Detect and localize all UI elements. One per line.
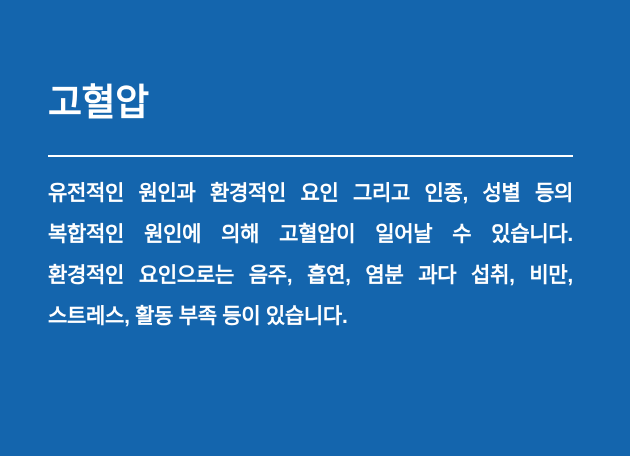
body-line-3-word-8: 비만, [529, 255, 573, 296]
body-line-1-word-3: 환경적인 [210, 173, 286, 214]
body-line-1-word-7: 성별 [482, 173, 520, 214]
title-divider [48, 155, 573, 157]
body-line-2-word-3: 의해 [221, 214, 259, 255]
body-line-3-word-5: 염분 [365, 255, 403, 296]
body-line-3-word-7: 섭취, [471, 255, 515, 296]
body-line-2-word-1: 복합적인 [48, 214, 124, 255]
body-line-3: 환경적인 요인으로는 음주, 흡연, 염분 과다 섭취, 비만, [48, 255, 573, 296]
body-line-3-word-1: 환경적인 [48, 255, 124, 296]
body-line-1-word-1: 유전적인 [48, 173, 124, 214]
hypertension-info-card: 고혈압 유전적인 원인과 환경적인 요인 그리고 인종, 성별 등의 복합적인 … [0, 0, 630, 456]
body-line-1-word-8: 등의 [535, 173, 573, 214]
body-line-1-word-4: 요인 [301, 173, 339, 214]
body-line-4: 스트레스, 활동 부족 등이 있습니다. [48, 296, 573, 337]
body-line-2: 복합적인 원인에 의해 고혈압이 일어날 수 있습니다. [48, 214, 573, 255]
body-line-3-word-3: 음주, [249, 255, 293, 296]
card-body-text: 유전적인 원인과 환경적인 요인 그리고 인종, 성별 등의 복합적인 원인에 … [48, 173, 573, 337]
body-line-2-word-6: 수 [452, 214, 471, 255]
body-line-1-word-2: 원인과 [139, 173, 196, 214]
body-line-2-word-5: 일어날 [375, 214, 432, 255]
page-title: 고혈압 [48, 80, 573, 126]
body-line-1-word-5: 그리고 [353, 173, 410, 214]
body-line-2-word-2: 원인에 [144, 214, 201, 255]
body-line-2-word-4: 고혈압이 [279, 214, 355, 255]
body-line-1: 유전적인 원인과 환경적인 요인 그리고 인종, 성별 등의 [48, 173, 573, 214]
card-content: 고혈압 유전적인 원인과 환경적인 요인 그리고 인종, 성별 등의 복합적인 … [48, 80, 573, 337]
body-line-3-word-4: 흡연, [307, 255, 351, 296]
body-line-1-word-6: 인종, [424, 173, 468, 214]
body-line-3-word-6: 과다 [418, 255, 456, 296]
body-line-2-word-7: 있습니다. [491, 214, 573, 255]
body-line-3-word-2: 요인으로는 [139, 255, 234, 296]
